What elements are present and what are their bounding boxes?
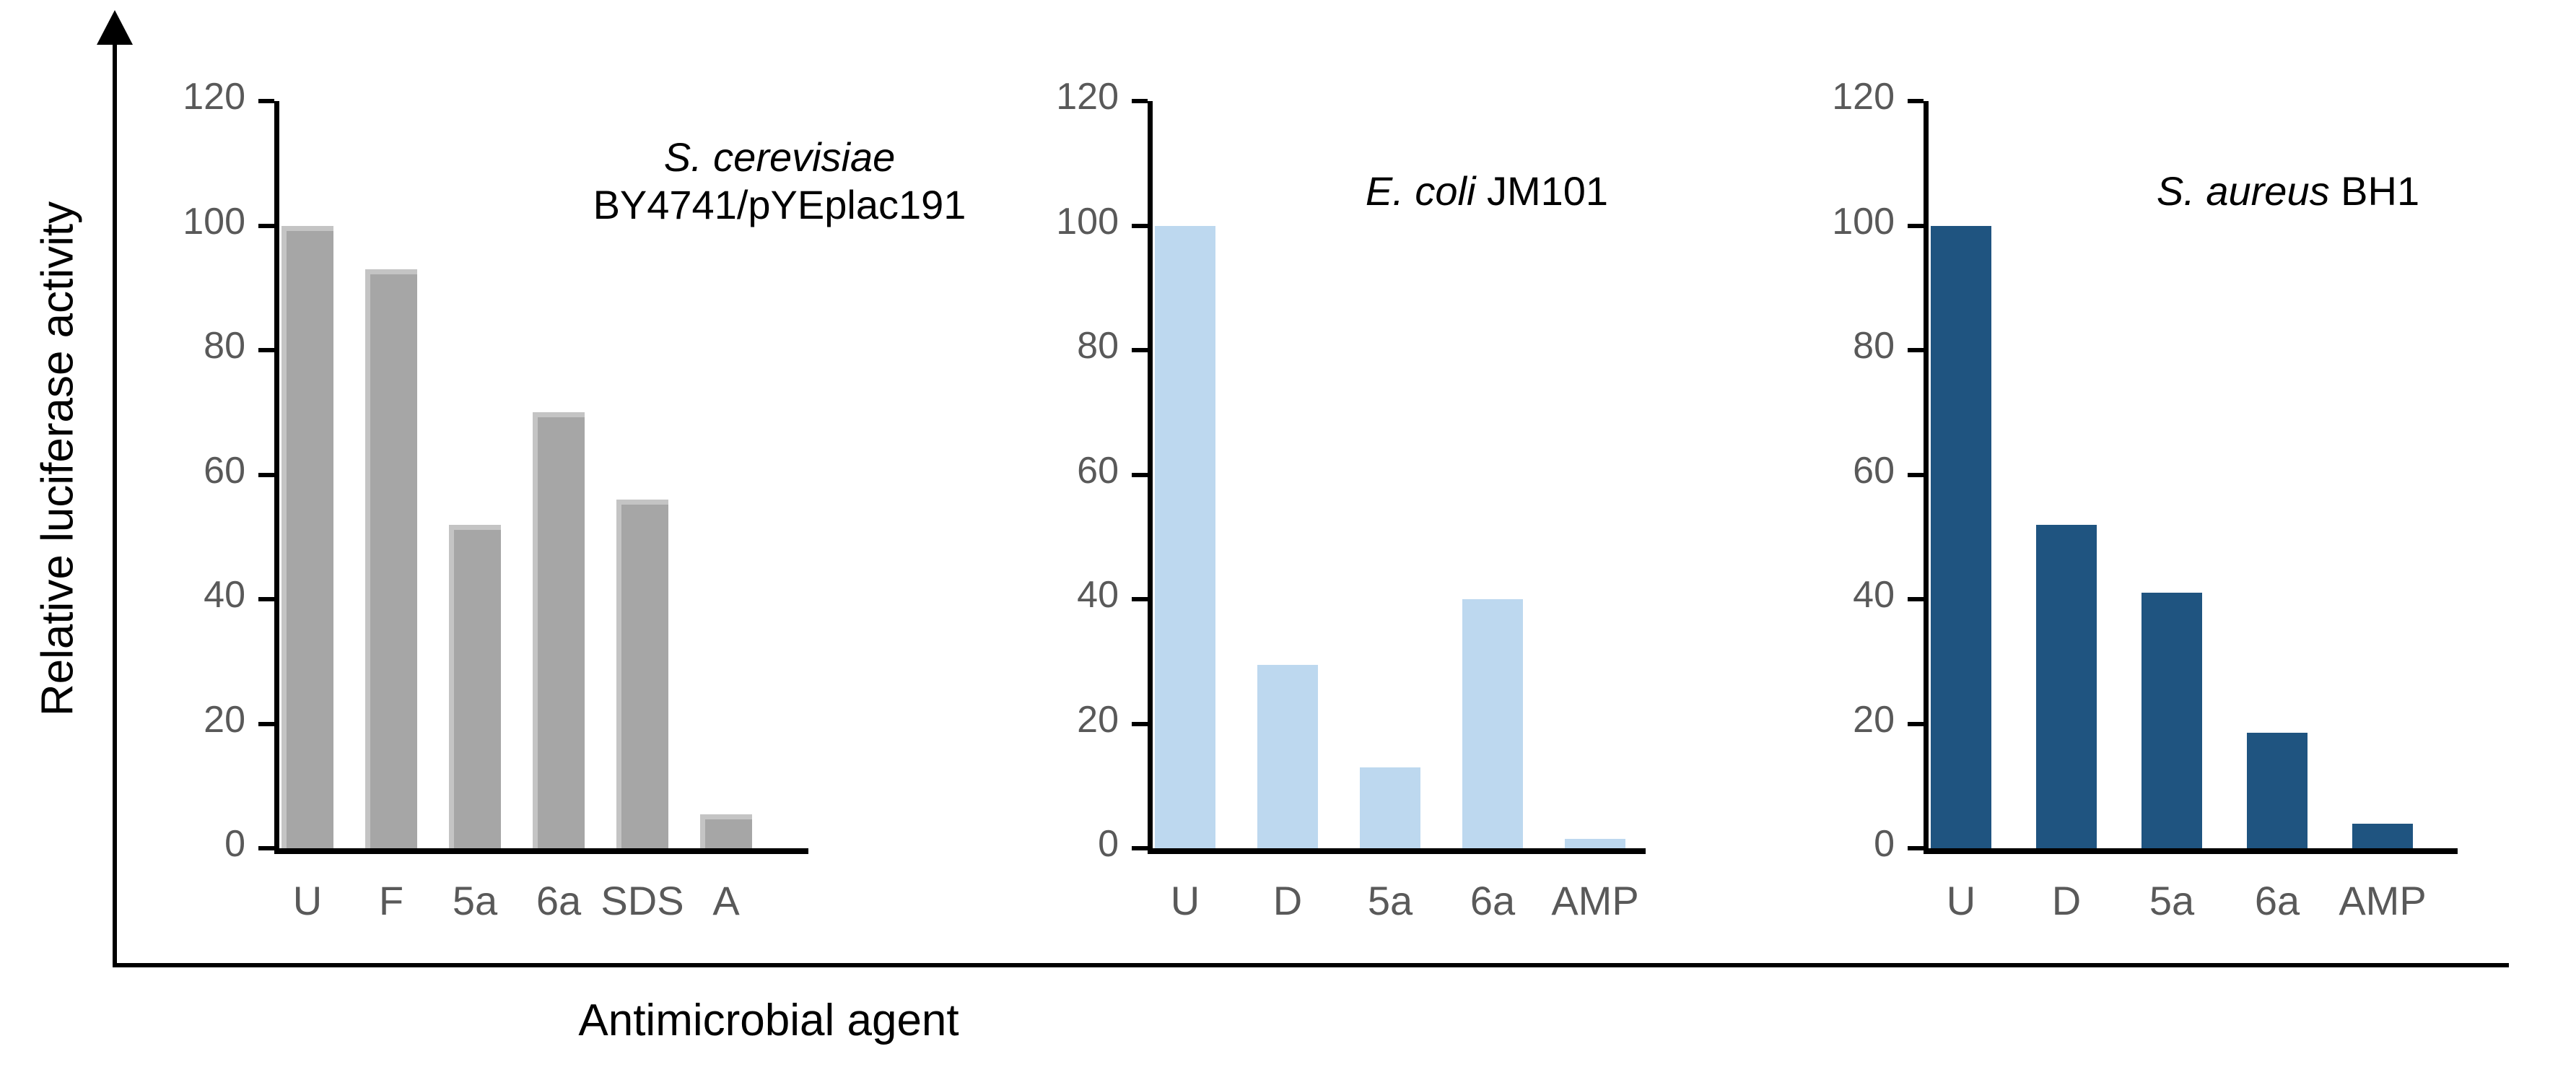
y-axis-tick-label: 20	[123, 698, 245, 741]
panel-x-axis	[274, 848, 808, 854]
panel-title-strain: BY4741/pYEplac191	[593, 182, 966, 227]
x-axis-category-label: D	[2007, 877, 2126, 924]
bar[interactable]	[2036, 525, 2097, 849]
bar[interactable]	[533, 412, 585, 848]
bar[interactable]	[449, 525, 501, 849]
x-axis-category-label: U	[1126, 877, 1244, 924]
y-axis-tick-label: 0	[1772, 822, 1895, 866]
y-axis-tick	[1132, 722, 1148, 726]
bar[interactable]	[1931, 226, 1991, 849]
y-axis-tick	[258, 846, 274, 850]
bar-slot	[1155, 101, 1215, 848]
y-axis-tick	[1132, 224, 1148, 228]
x-axis-category-label: 5a	[2113, 877, 2231, 924]
y-axis-tick	[1908, 473, 1924, 477]
bar[interactable]	[1565, 839, 1625, 848]
x-axis-category-label: U	[1902, 877, 2020, 924]
y-axis-tick	[258, 473, 274, 477]
y-axis-tick-label: 40	[996, 573, 1119, 617]
y-axis-tick	[1132, 473, 1148, 477]
y-axis-tick-label: 0	[123, 822, 245, 866]
y-axis-tick-label: 80	[123, 324, 245, 367]
y-axis-tick-label: 100	[1772, 200, 1895, 243]
figure-canvas: Relative luciferase activity Antimicrobi…	[0, 0, 2576, 1067]
y-axis-tick	[1132, 597, 1148, 601]
y-axis-tick-label: 20	[1772, 698, 1895, 741]
panel-title-species: S. aureus	[2157, 168, 2330, 214]
bar[interactable]	[281, 226, 333, 849]
bar[interactable]	[2352, 824, 2413, 849]
bar[interactable]	[2141, 593, 2202, 848]
y-axis-tick	[258, 99, 274, 103]
bar[interactable]	[616, 500, 668, 848]
y-axis-tick-label: 60	[123, 449, 245, 492]
panel-title: E. coli JM101	[1256, 167, 1718, 215]
bar-slot	[281, 101, 333, 848]
y-axis-tick-label: 80	[996, 324, 1119, 367]
y-axis-tick-label: 120	[123, 75, 245, 118]
panel-title: S. aureus BH1	[2057, 167, 2519, 215]
y-axis-tick	[1132, 846, 1148, 850]
y-axis-spine	[113, 38, 117, 966]
x-axis-category-label: AMP	[1536, 877, 1654, 924]
panel-title: S. cerevisiaeBY4741/pYEplac191	[549, 134, 1010, 229]
y-axis-tick	[258, 224, 274, 228]
y-axis-tick	[258, 597, 274, 601]
y-axis-tick-label: 0	[996, 822, 1119, 866]
y-axis-tick-label: 100	[123, 200, 245, 243]
y-axis-tick-label: 120	[996, 75, 1119, 118]
y-axis-tick-label: 60	[996, 449, 1119, 492]
y-axis-tick-label: 20	[996, 698, 1119, 741]
y-axis-tick-label: 80	[1772, 324, 1895, 367]
bar[interactable]	[365, 269, 417, 848]
bar-slot	[1931, 101, 1991, 848]
bar-slot	[365, 101, 417, 848]
y-axis-tick	[1908, 722, 1924, 726]
x-axis-spine	[113, 963, 2509, 967]
panel-title-strain: JM101	[1487, 168, 1608, 214]
panel-title-species: S. cerevisiae	[664, 134, 896, 180]
x-axis-category-label: A	[671, 877, 781, 924]
panel-x-axis	[1924, 848, 2458, 854]
bar[interactable]	[1360, 767, 1420, 848]
y-axis-tick-label: 40	[123, 573, 245, 617]
y-axis-tick	[1132, 99, 1148, 103]
panel-y-axis	[1148, 101, 1153, 854]
panel-x-axis	[1148, 848, 1646, 854]
y-axis-tick	[258, 722, 274, 726]
x-axis-category-label: D	[1228, 877, 1347, 924]
bar[interactable]	[1155, 226, 1215, 849]
panel-title-strain: BH1	[2341, 168, 2419, 214]
y-axis-tick-label: 60	[1772, 449, 1895, 492]
bar[interactable]	[1462, 599, 1523, 848]
y-axis-tick	[1908, 348, 1924, 352]
y-axis-tick-label: 100	[996, 200, 1119, 243]
panel-y-axis	[1924, 101, 1929, 854]
y-axis-tick-label: 40	[1772, 573, 1895, 617]
x-axis-category-label: 6a	[2218, 877, 2336, 924]
panel-y-axis	[274, 101, 279, 854]
y-axis-tick-label: 120	[1772, 75, 1895, 118]
bar-slot	[449, 101, 501, 848]
bar[interactable]	[2247, 733, 2308, 848]
x-axis-category-label: AMP	[2323, 877, 2442, 924]
y-axis-tick	[1908, 846, 1924, 850]
panel-title-species: E. coli	[1366, 168, 1476, 214]
y-axis-tick	[1908, 597, 1924, 601]
x-axis-category-label: 5a	[1331, 877, 1449, 924]
x-axis-title: Antimicrobial agent	[0, 995, 1537, 1046]
y-axis-tick	[258, 348, 274, 352]
y-axis-tick	[1908, 99, 1924, 103]
y-axis-tick	[1132, 348, 1148, 352]
bar[interactable]	[700, 814, 752, 848]
y-axis-title: Relative luciferase activity	[32, 163, 84, 755]
x-axis-category-label: 6a	[1433, 877, 1552, 924]
bar[interactable]	[1257, 665, 1318, 848]
y-axis-tick	[1908, 224, 1924, 228]
